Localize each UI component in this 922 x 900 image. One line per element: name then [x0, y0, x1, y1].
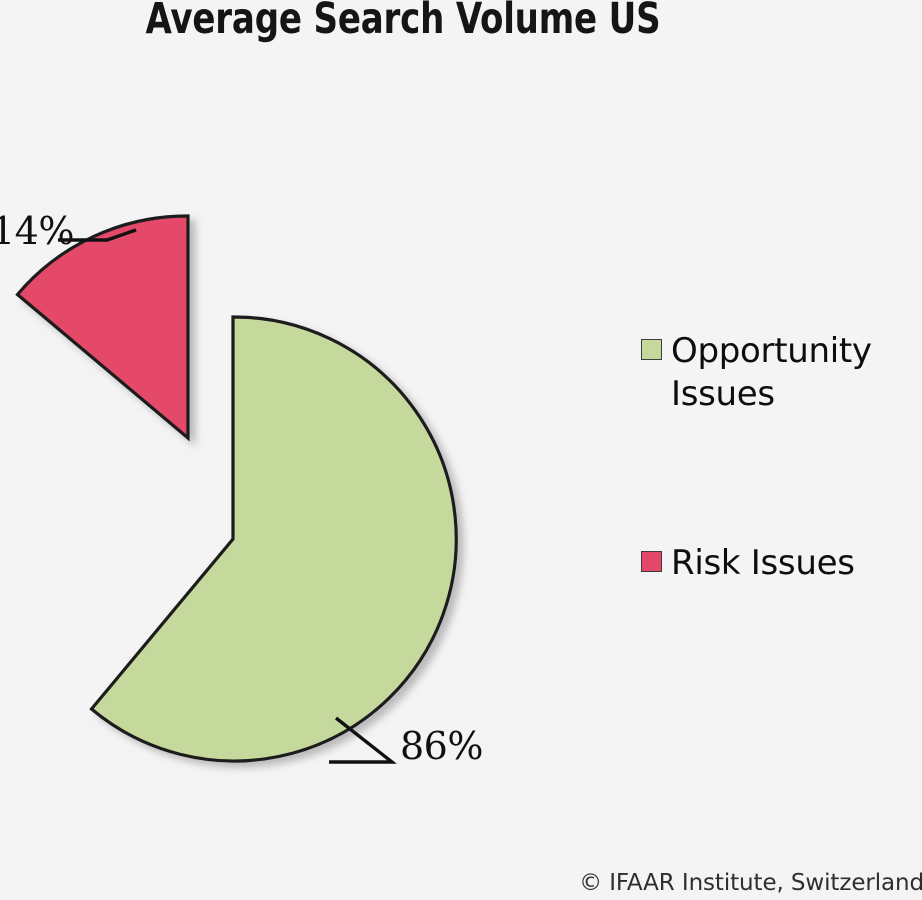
legend-item-risk-issues[interactable]: Risk Issues	[641, 542, 855, 585]
copyright-credit: © IFAAR Institute, Switzerland	[579, 870, 922, 896]
legend-label-risk-issues: Risk Issues	[671, 542, 855, 585]
legend-swatch-opportunity-icon	[641, 339, 662, 360]
legend-label-opportunity-issues: Opportunity Issues	[671, 330, 913, 416]
data-label-risk-percent: 14%	[0, 209, 74, 253]
legend-swatch-risk-icon	[641, 551, 662, 572]
chart-canvas: Average Search Volume US 14% 86% Opportu…	[0, 0, 922, 900]
legend-item-opportunity-issues[interactable]: Opportunity Issues	[641, 330, 913, 416]
data-label-opportunity-percent: 86%	[400, 724, 483, 768]
